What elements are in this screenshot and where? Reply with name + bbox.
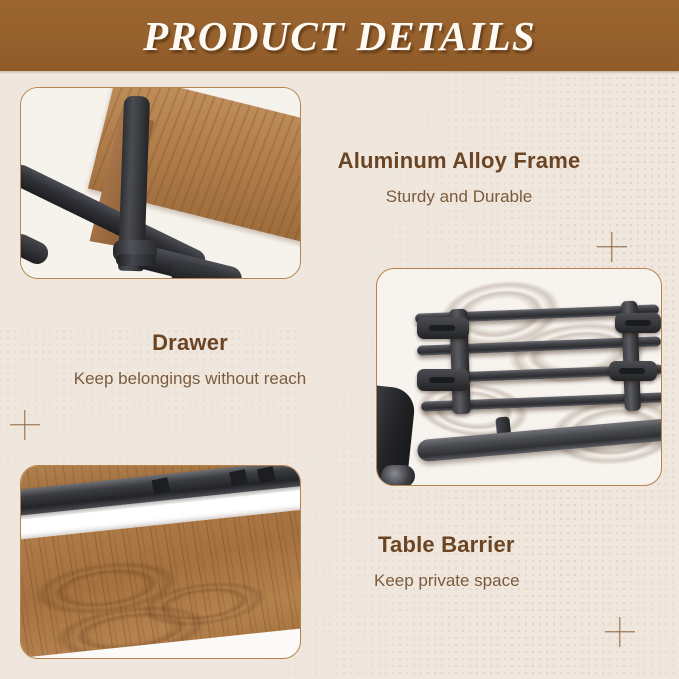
label-drawer: Drawer Keep belongings without reach	[38, 330, 342, 390]
rail-tab	[152, 477, 171, 494]
plus-mark-icon	[597, 232, 627, 262]
rail-tab	[229, 469, 248, 486]
plus-mark-icon	[10, 410, 40, 440]
label-table-barrier: Table Barrier Keep private space	[374, 532, 664, 592]
bracket-slot	[625, 320, 651, 326]
feature-subheading-alloy: Sturdy and Durable	[323, 186, 595, 208]
rail-tab	[257, 466, 276, 483]
bracket-slot	[429, 377, 455, 383]
banner-underline	[0, 71, 679, 74]
bracket-slot	[619, 368, 645, 374]
feature-heading-alloy: Aluminum Alloy Frame	[323, 148, 595, 174]
header-banner: PRODUCT DETAILS	[0, 0, 679, 71]
plus-mark-icon	[605, 617, 635, 647]
photo-content-barrier	[377, 269, 661, 485]
photo-drawer	[20, 465, 301, 659]
photo-aluminum-alloy-frame	[20, 87, 301, 279]
feature-heading-drawer: Drawer	[38, 330, 342, 356]
barrier-bracket	[615, 313, 661, 333]
photo-table-barrier	[376, 268, 662, 486]
desk-leg-hinge	[381, 465, 415, 485]
barrier-bracket	[417, 369, 469, 391]
feature-subheading-barrier: Keep private space	[374, 570, 664, 592]
frame-leg-collar-lower	[116, 254, 156, 266]
feature-subheading-drawer: Keep belongings without reach	[38, 368, 342, 390]
feature-heading-barrier: Table Barrier	[374, 532, 664, 558]
bracket-slot	[429, 325, 455, 331]
barrier-bracket	[417, 317, 469, 339]
barrier-bracket	[609, 361, 657, 381]
photo-content-alloy	[21, 88, 300, 278]
label-aluminum-alloy-frame: Aluminum Alloy Frame Sturdy and Durable	[323, 148, 595, 208]
photo-content-drawer	[21, 466, 300, 658]
page-title: PRODUCT DETAILS	[143, 12, 536, 60]
product-details-infographic: PRODUCT DETAILS Aluminum Alloy Frame Stu…	[0, 0, 679, 679]
